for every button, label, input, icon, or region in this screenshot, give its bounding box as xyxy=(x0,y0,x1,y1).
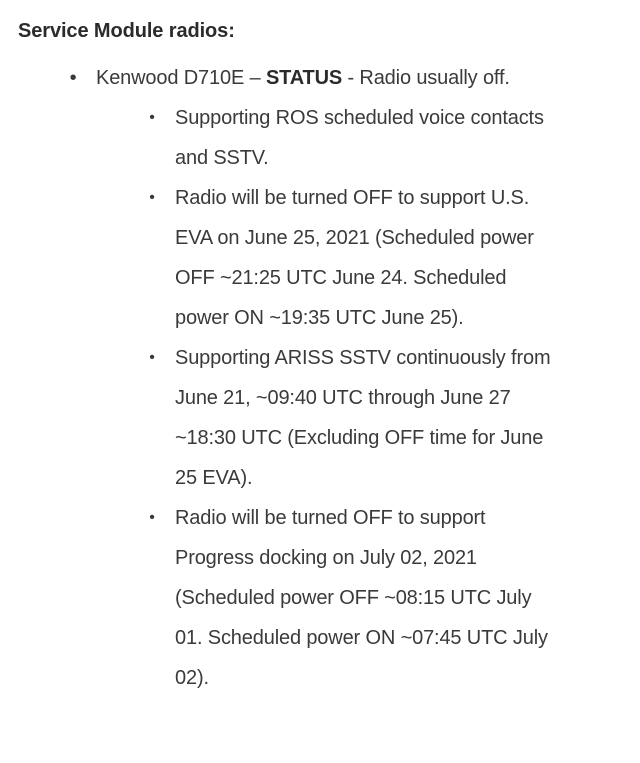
text-line: Radio will be turned OFF to support xyxy=(175,498,632,538)
text-line: Radio will be turned OFF to support U.S. xyxy=(175,178,632,218)
list-item-progress-docking-power-off: • Radio will be turned OFF to support Pr… xyxy=(147,498,632,698)
list-item-us-eva-power-off: • Radio will be turned OFF to support U.… xyxy=(147,178,632,338)
list-item-text: Supporting ARISS SSTV continuously from … xyxy=(175,338,632,498)
text-line: 01. Scheduled power ON ~07:45 UTC July xyxy=(175,618,632,658)
list-item-label: Kenwood D710E – STATUS - Radio usually o… xyxy=(96,58,632,98)
text-line: June 21, ~09:40 UTC through June 27 xyxy=(175,378,632,418)
bullet-point-icon: • xyxy=(147,98,157,138)
text-line: OFF ~21:25 UTC June 24. Scheduled xyxy=(175,258,632,298)
text-line: 02). xyxy=(175,658,632,698)
text-line: power ON ~19:35 UTC June 25). xyxy=(175,298,632,338)
document-page: Service Module radios: • Kenwood D710E –… xyxy=(0,0,640,763)
text-line: Supporting ROS scheduled voice contacts xyxy=(175,98,632,138)
text-line: Supporting ARISS SSTV continuously from xyxy=(175,338,632,378)
radio-name-text: Kenwood D710E – xyxy=(96,67,266,89)
list-item-text: Radio will be turned OFF to support Prog… xyxy=(175,498,632,698)
status-description-text: - Radio usually off. xyxy=(342,67,510,89)
bullet-point-icon: • xyxy=(67,58,79,98)
status-badge: STATUS xyxy=(266,67,342,89)
list-item-text: Supporting ROS scheduled voice contacts … xyxy=(175,98,632,178)
list-item-ariss-sstv-continuous: • Supporting ARISS SSTV continuously fro… xyxy=(147,338,632,498)
page-title: Service Module radios: xyxy=(18,18,632,44)
text-line: EVA on June 25, 2021 (Scheduled power xyxy=(175,218,632,258)
text-line: ~18:30 UTC (Excluding OFF time for June xyxy=(175,418,632,458)
list-item-ros-voice-sstv: • Supporting ROS scheduled voice contact… xyxy=(147,98,632,178)
radio-details-list: • Supporting ROS scheduled voice contact… xyxy=(147,98,632,698)
text-line: 25 EVA). xyxy=(175,458,632,498)
text-line: Progress docking on July 02, 2021 xyxy=(175,538,632,578)
nested-details-wrapper: • Supporting ROS scheduled voice contact… xyxy=(147,98,632,698)
bullet-point-icon: • xyxy=(147,498,157,538)
text-line: (Scheduled power OFF ~08:15 UTC July xyxy=(175,578,632,618)
radio-status-list: • Kenwood D710E – STATUS - Radio usually… xyxy=(18,58,632,698)
bullet-point-icon: • xyxy=(147,338,157,378)
list-item-text: Radio will be turned OFF to support U.S.… xyxy=(175,178,632,338)
list-item-kenwood-d710e: • Kenwood D710E – STATUS - Radio usually… xyxy=(18,58,632,698)
text-line: and SSTV. xyxy=(175,138,632,178)
bullet-point-icon: • xyxy=(147,178,157,218)
